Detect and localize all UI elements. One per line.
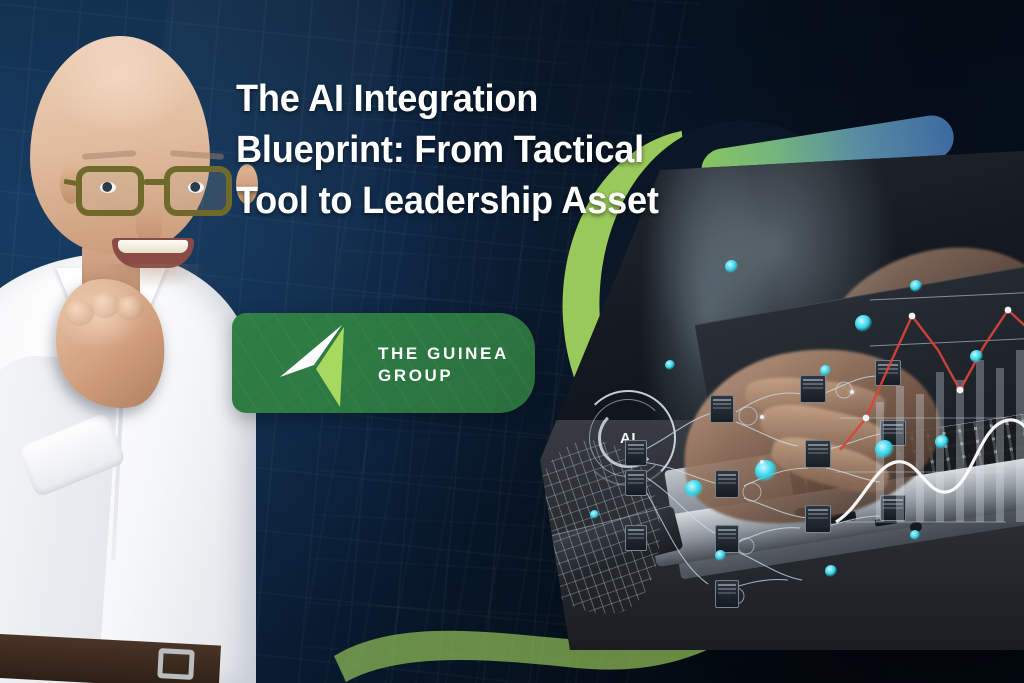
logo-mark-svg — [278, 319, 370, 411]
headline-line-2: Blueprint: From Tactical — [236, 125, 660, 176]
eye-right — [188, 182, 204, 193]
glow-dot — [715, 550, 726, 561]
belt-buckle — [157, 648, 195, 680]
page-title: The AI Integration Blueprint: From Tacti… — [236, 74, 660, 227]
node-marker-dot — [760, 415, 764, 419]
nose — [136, 208, 162, 242]
glow-dot — [910, 530, 920, 540]
logo-line-2: GROUP — [378, 365, 509, 387]
teeth — [118, 240, 188, 253]
eyeglasses — [76, 166, 248, 218]
logo-line-1: THE GUINEA — [378, 343, 509, 365]
eyebrow-right — [170, 150, 224, 160]
logo-wordmark: THE GUINEA GROUP — [378, 343, 509, 387]
eye-left — [100, 182, 116, 193]
presenter-head — [30, 36, 210, 254]
glow-dot — [590, 510, 599, 519]
glow-dot — [910, 280, 922, 292]
eyebrow-left — [82, 150, 136, 160]
knuckle — [116, 296, 144, 320]
node-marker-dot — [760, 460, 764, 464]
glow-dot — [755, 460, 777, 482]
glow-dot — [935, 435, 949, 449]
white-wave-line — [836, 420, 1024, 522]
glow-dot — [875, 440, 894, 459]
glow-dot — [970, 350, 983, 363]
glow-dot — [820, 365, 831, 376]
node-marker-dot — [850, 390, 854, 394]
glow-dot — [725, 260, 738, 273]
logo-badge: THE GUINEA GROUP — [232, 313, 535, 413]
glow-dot — [685, 480, 703, 498]
glasses-bridge — [144, 179, 166, 185]
glow-dot — [825, 565, 837, 577]
guinea-group-arrow-mark — [278, 319, 370, 411]
headline-line-1: The AI Integration — [236, 74, 660, 125]
headline-line-3: Tool to Leadership Asset — [236, 176, 660, 227]
glow-dot — [855, 315, 872, 332]
glow-dot — [665, 360, 675, 370]
blog-banner: AI — [0, 0, 1024, 683]
